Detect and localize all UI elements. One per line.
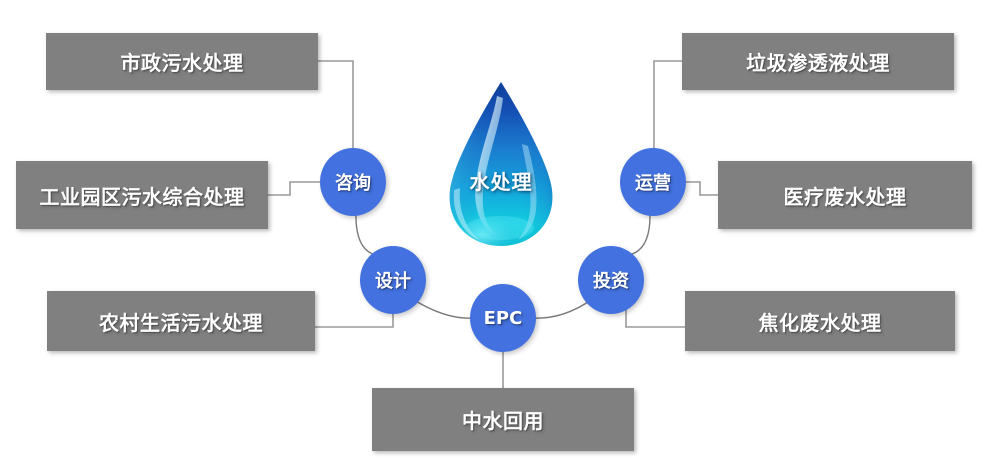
- leaf-box-label: 中水回用: [462, 405, 544, 434]
- leaf-box-reclaimed-water-reuse[interactable]: 中水回用: [372, 388, 634, 451]
- process-node-epc[interactable]: EPC: [470, 284, 536, 352]
- process-node-label: 设计: [375, 267, 411, 293]
- leaf-box-industrial-park-sewage[interactable]: 工业园区污水综合处理: [16, 161, 268, 229]
- water-drop-icon: [440, 78, 562, 250]
- process-node-design[interactable]: 设计: [360, 246, 426, 314]
- leaf-box-coking-wastewater[interactable]: 焦化废水处理: [685, 291, 955, 351]
- leaf-box-label: 工业园区污水综合处理: [40, 181, 245, 210]
- process-node-consult[interactable]: 咨询: [320, 148, 386, 216]
- leaf-box-rural-domestic-sewage[interactable]: 农村生活污水处理: [47, 291, 315, 351]
- process-node-invest[interactable]: 投资: [578, 246, 644, 314]
- process-node-label: EPC: [484, 308, 523, 329]
- leaf-box-landfill-leachate[interactable]: 垃圾渗透液处理: [682, 33, 954, 90]
- leaf-box-medical-wastewater[interactable]: 医疗废水处理: [718, 161, 972, 229]
- leaf-box-label: 农村生活污水处理: [99, 307, 263, 336]
- leaf-box-label: 垃圾渗透液处理: [746, 47, 890, 76]
- center-water-drop: 水处理: [440, 78, 562, 250]
- process-node-label: 运营: [635, 169, 671, 195]
- leaf-box-label: 医疗废水处理: [784, 181, 907, 210]
- water-treatment-diagram: 水处理 咨询 设计 EPC 投资 运营 市政污水处理 工业园区污水综合处理 农村…: [0, 0, 1000, 467]
- leaf-box-label: 市政污水处理: [121, 47, 244, 76]
- process-node-label: 咨询: [335, 169, 371, 195]
- process-node-operate[interactable]: 运营: [620, 148, 686, 216]
- leaf-box-municipal-sewage[interactable]: 市政污水处理: [46, 33, 318, 90]
- process-node-label: 投资: [593, 267, 629, 293]
- leaf-box-label: 焦化废水处理: [759, 307, 882, 336]
